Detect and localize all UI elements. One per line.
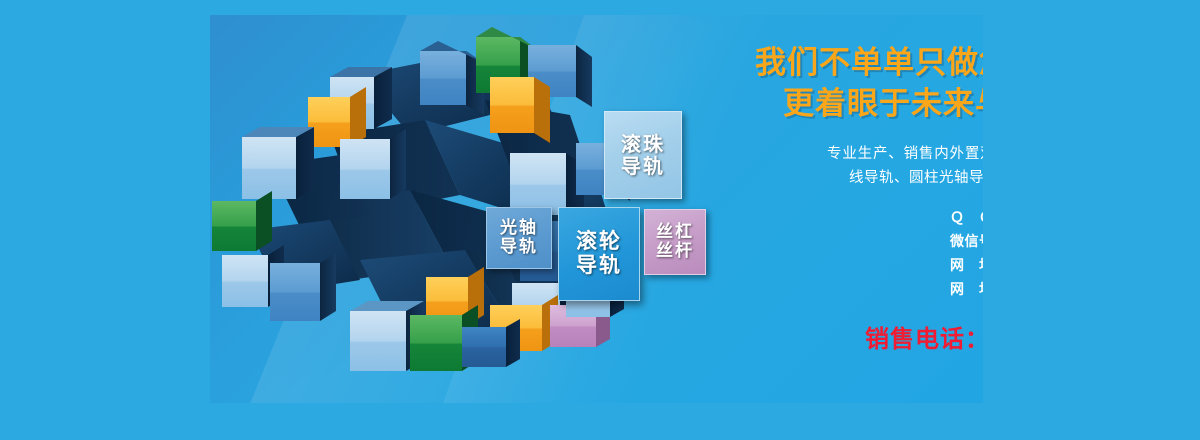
product-cube-line1: 丝杠 — [656, 223, 694, 242]
contact-label: Ｑ Ｑ — [950, 207, 983, 227]
product-cube-line2: 导轨 — [576, 254, 622, 278]
product-cube-line1: 光轴 — [500, 219, 538, 238]
banner-panel: 滚珠 导轨 光轴 导轨 滚轮 导轨 丝杠 丝杆 我们不单单只做您目前的订单 更着… — [210, 15, 983, 403]
contact-row-wechat: 微信号 ： zxdgzc （直线导轨轴承） — [950, 231, 983, 251]
headline-line-2: 更着眼于未来与您长期合作 — [783, 84, 983, 125]
headline-line-1: 我们不单单只做您目前的订单 — [755, 43, 983, 84]
product-cube-line2: 导轨 — [621, 155, 665, 177]
product-cube-line1: 滚珠 — [621, 133, 665, 155]
contact-label: 网 址 — [950, 279, 983, 299]
contact-row-website-1: 网 址 ： Www.Zxdgzc.Com — [950, 255, 983, 275]
product-cube-optical-shaft-guide: 光轴 导轨 — [486, 207, 552, 269]
contact-label: 微信号 — [950, 231, 983, 251]
product-cube-line2: 丝杆 — [656, 242, 694, 261]
product-cube-line2: 导轨 — [500, 238, 538, 257]
contact-block: Ｑ Ｑ ： 80286553 微信号 ： zxdgzc （直线导轨轴承） 网 址… — [950, 207, 983, 299]
product-cube-ball-guide: 滚珠 导轨 — [604, 111, 682, 199]
product-cube-lead-screw: 丝杠 丝杆 — [644, 209, 706, 275]
contact-row-qq: Ｑ Ｑ ： 80286553 — [950, 207, 983, 227]
contact-row-website-2: 网 址 ： Www.Cnzxdg.Com — [950, 279, 983, 299]
product-cube-roller-guide: 滚轮 导轨 — [558, 207, 640, 301]
product-cube-line1: 滚轮 — [576, 230, 622, 254]
sales-phone-block: 销售电话： 18357860469 — [865, 319, 983, 354]
banner-content: 我们不单单只做您目前的订单 更着眼于未来与您长期合作 专业生产、销售内外置双轴心… — [755, 43, 983, 354]
description-text: 专业生产、销售内外置双轴心滚轮直线导轨、滚珠直线导轨、圆柱光轴导轨、丝杠丝杆、直… — [827, 143, 983, 190]
sales-phone-label: 销售电话： — [865, 325, 983, 353]
contact-label: 网 址 — [950, 255, 983, 275]
promotional-banner: 滚珠 导轨 光轴 导轨 滚轮 导轨 丝杠 丝杆 我们不单单只做您目前的订单 更着… — [0, 0, 1200, 440]
